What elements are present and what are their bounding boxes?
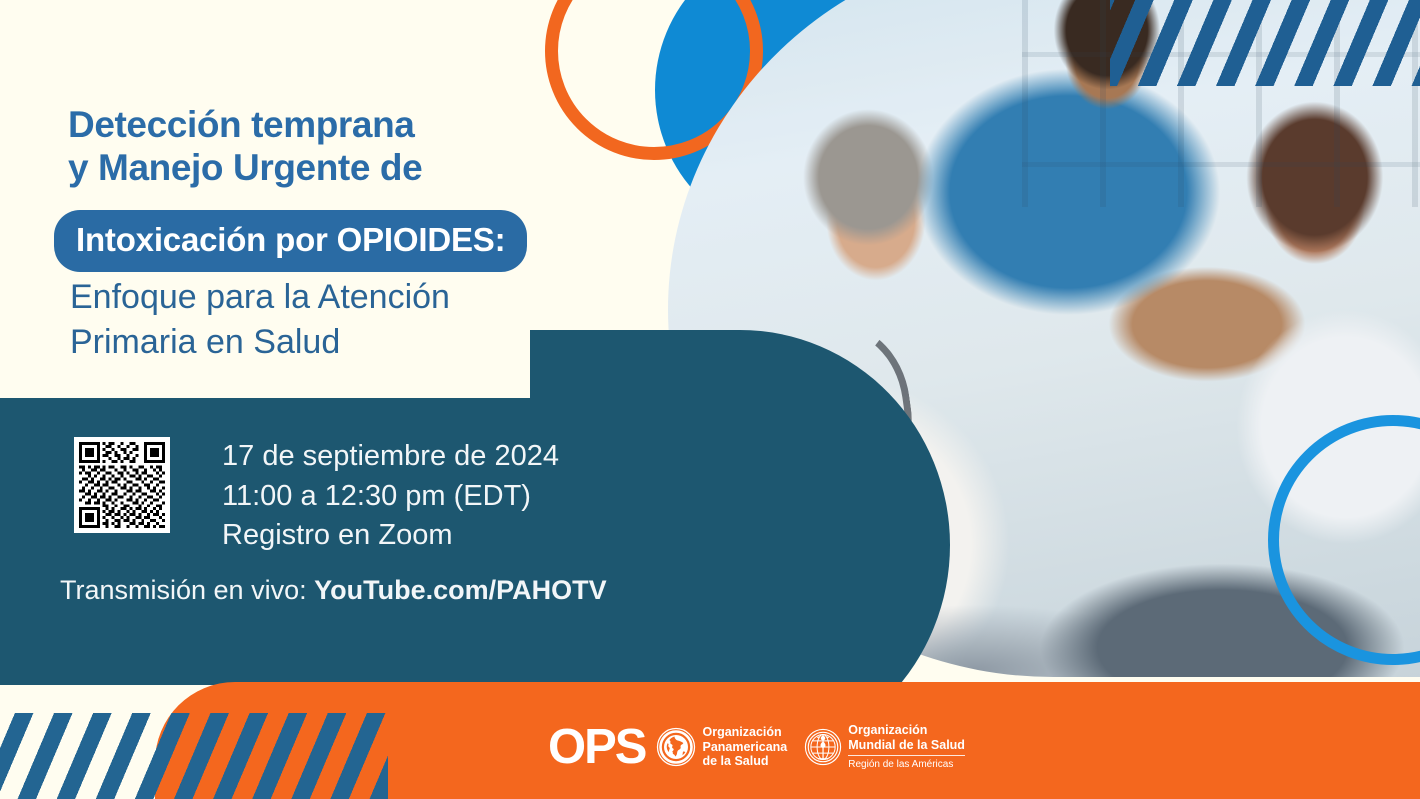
qr-code-image (79, 442, 165, 528)
title-highlight-pill: Intoxicación por OPIOIDES: (54, 210, 527, 272)
paho-globe-icon (656, 727, 696, 767)
who-logo: Organización Mundial de la Salud Región … (804, 723, 965, 772)
livestream-line: Transmisión en vivo: YouTube.com/PAHOTV (60, 575, 607, 606)
ops-acronym: OPS (548, 723, 645, 772)
who-region: Región de las Américas (848, 755, 965, 771)
paho-name: Organización Panamericana de la Salud (702, 725, 787, 769)
page-subtitle: Enfoque para la Atención Primaria en Sal… (70, 275, 450, 365)
promotional-banner: Detección temprana y Manejo Urgente de I… (0, 0, 1420, 799)
livestream-label: Transmisión en vivo: (60, 575, 307, 605)
event-details: 17 de septiembre de 2024 11:00 a 12:30 p… (222, 437, 559, 556)
footer-logos: OPS Organización Panamericana de la Salu… (548, 716, 965, 778)
who-name: Organización Mundial de la Salud (848, 723, 965, 753)
page-title: Detección temprana y Manejo Urgente de (68, 103, 422, 190)
who-emblem-icon (804, 728, 842, 766)
qr-code[interactable] (74, 437, 170, 533)
livestream-url[interactable]: YouTube.com/PAHOTV (314, 575, 607, 605)
